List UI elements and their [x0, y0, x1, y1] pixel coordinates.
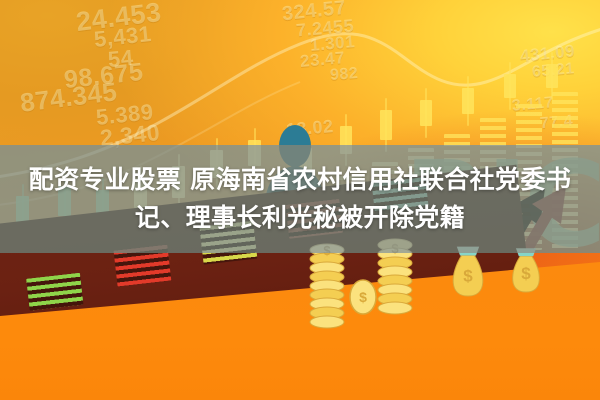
dollar-sign-icon: $ [521, 264, 531, 283]
plate-bar [26, 273, 83, 311]
coin-stack-left: $ [310, 243, 344, 328]
headline-line-1: 配资专业股票 原海南省农村信用社联合社党委书 [29, 163, 572, 197]
money-bag-left: $ [453, 247, 483, 296]
coin [378, 302, 412, 314]
gold-assets: $$$$$ [300, 236, 600, 366]
dollar-sign-icon: $ [463, 266, 473, 285]
money-bag-right: $ [513, 248, 540, 292]
coin-face: $ [350, 280, 376, 314]
news-banner-image: 24.4535,4315498.675874.3455.3892,340324.… [0, 0, 600, 400]
headline-line-2: 记、理事长利光秘被开除党籍 [135, 201, 465, 235]
headline-text: 配资专业股票 原海南省农村信用社联合社党委书 记、理事长利光秘被开除党籍 [0, 145, 600, 253]
coin [310, 316, 344, 328]
dollar-sign-icon: $ [359, 289, 367, 305]
